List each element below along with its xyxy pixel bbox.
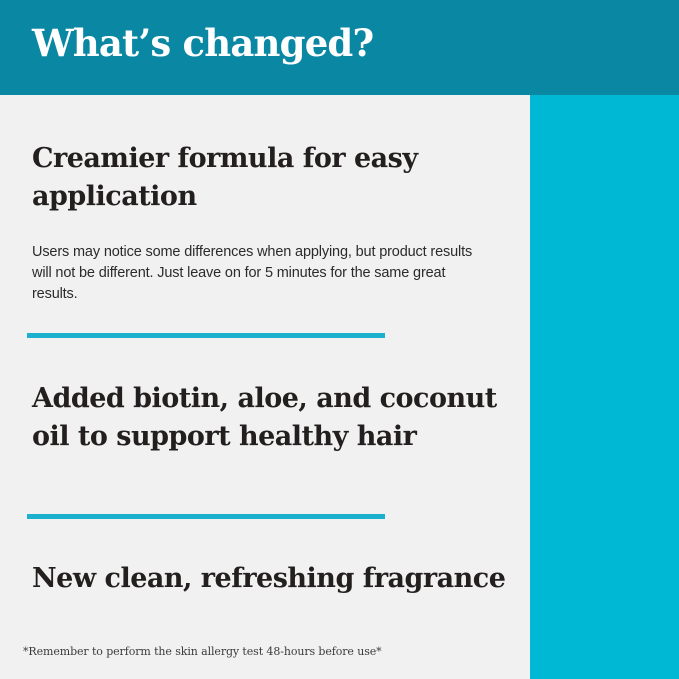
section-heading: Added biotin, aloe, and coconut oil to s… bbox=[32, 380, 527, 456]
section-added-ingredients: Added biotin, aloe, and coconut oil to s… bbox=[32, 380, 527, 456]
section-heading: Creamier formula for easy application bbox=[32, 140, 527, 216]
product-info-poster: What’s changed? Creamier formula for eas… bbox=[0, 0, 679, 679]
section-new-fragrance: New clean, refreshing fragrance bbox=[32, 560, 505, 598]
section-divider bbox=[27, 333, 385, 338]
section-creamier-formula: Creamier formula for easy application Us… bbox=[32, 140, 527, 305]
header-band: What’s changed? bbox=[0, 0, 679, 95]
content-column: Creamier formula for easy application Us… bbox=[0, 95, 530, 679]
right-accent-panel bbox=[530, 95, 679, 679]
section-body-text: Users may notice some differences when a… bbox=[32, 242, 482, 305]
section-divider bbox=[27, 514, 385, 519]
section-heading: New clean, refreshing fragrance bbox=[32, 560, 505, 598]
page-title: What’s changed? bbox=[32, 19, 373, 67]
footnote-allergy-test: *Remember to perform the skin allergy te… bbox=[23, 645, 382, 659]
